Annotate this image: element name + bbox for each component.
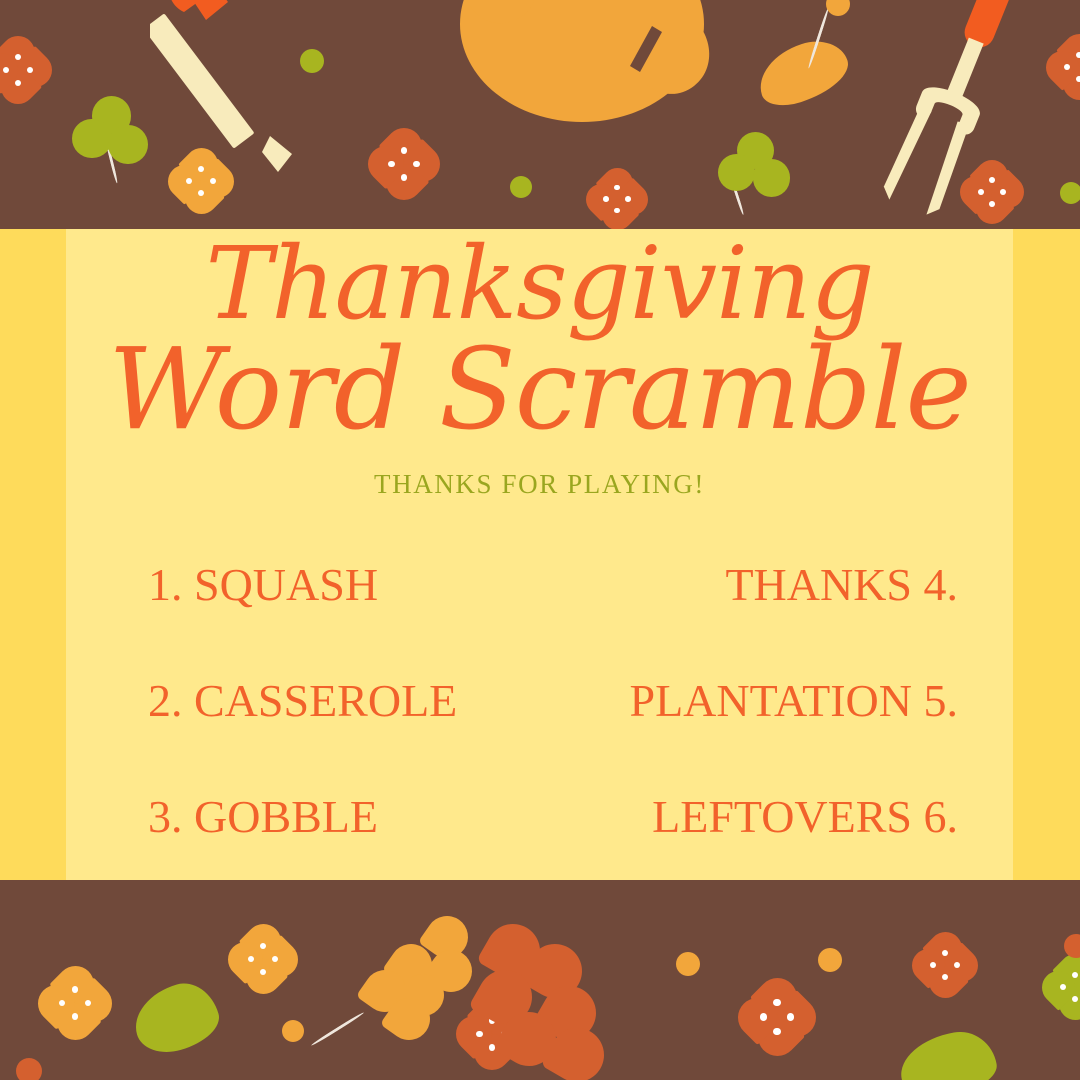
- word-row: 2. CASSEROLE PLANTATION 5.: [66, 672, 1013, 730]
- word-item-6: LEFTOVERS 6.: [652, 788, 958, 846]
- word-item-5: PLANTATION 5.: [629, 672, 958, 730]
- word-item-2: 2. CASSEROLE: [148, 672, 457, 730]
- four-petal-flower-icon: [1042, 954, 1080, 1020]
- clover-leaf-icon: [718, 132, 790, 204]
- four-petal-flower-icon: [168, 148, 234, 214]
- four-petal-flower-icon: [738, 978, 816, 1056]
- roast-turkey-icon: [430, 0, 730, 166]
- title-line-2: Word Scramble: [66, 337, 1013, 443]
- title-block: Thanksgiving Word Scramble THANKS FOR PL…: [66, 236, 1013, 500]
- four-petal-flower-icon: [228, 924, 298, 994]
- autumn-leaf-icon: [751, 32, 855, 113]
- four-petal-flower-icon: [0, 36, 52, 104]
- berry-dot-icon: [510, 176, 532, 198]
- four-petal-flower-icon: [586, 168, 648, 229]
- berry-dot-icon: [16, 1058, 42, 1080]
- clover-leaf-icon: [72, 96, 148, 172]
- berry-dot-icon: [1060, 182, 1080, 204]
- top-decorative-band: [0, 0, 1080, 229]
- four-petal-flower-icon: [912, 932, 978, 998]
- four-petal-flower-icon: [368, 128, 440, 200]
- bottom-decorative-band: [0, 880, 1080, 1080]
- title-line-1: Thanksgiving: [66, 236, 1013, 331]
- berry-cluster-icon: [368, 916, 488, 1026]
- berry-dot-icon: [818, 948, 842, 972]
- word-item-1: 1. SQUASH: [148, 556, 378, 614]
- berry-cluster-icon: [508, 916, 648, 1066]
- thanksgiving-word-scramble-poster: Thanksgiving Word Scramble THANKS FOR PL…: [0, 0, 1080, 1080]
- word-row: 1. SQUASH THANKS 4.: [66, 556, 1013, 614]
- word-scramble-list: 1. SQUASH THANKS 4. 2. CASSEROLE PLANTAT…: [66, 556, 1013, 874]
- subtitle: THANKS FOR PLAYING!: [66, 469, 1013, 500]
- four-petal-flower-icon: [960, 160, 1024, 224]
- leaf-blob-icon: [895, 1026, 1000, 1080]
- berry-dot-icon: [676, 952, 700, 976]
- berry-dot-icon: [826, 0, 850, 16]
- berry-dot-icon: [282, 1020, 304, 1042]
- word-item-3: 3. GOBBLE: [148, 788, 378, 846]
- leaf-blob-icon: [127, 976, 225, 1061]
- berry-dot-icon: [300, 49, 324, 73]
- four-petal-flower-icon: [1046, 34, 1080, 100]
- word-item-4: THANKS 4.: [725, 556, 958, 614]
- four-petal-flower-icon: [38, 966, 112, 1040]
- word-row: 3. GOBBLE LEFTOVERS 6.: [66, 788, 1013, 846]
- stem-icon: [310, 1011, 364, 1046]
